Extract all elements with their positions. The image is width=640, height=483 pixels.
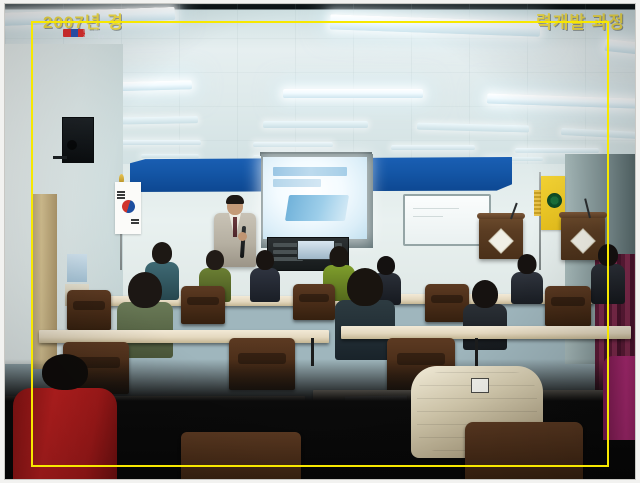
flag-emblem-icon (547, 193, 562, 208)
ceiling-lamp (391, 145, 475, 150)
audience-head (347, 268, 383, 306)
audience-body (591, 264, 625, 304)
presenter-hair (226, 195, 244, 204)
audience-member (591, 244, 625, 302)
magenta-jacket-torso (603, 356, 635, 440)
ceiling-lamp (141, 154, 199, 158)
chair[interactable] (545, 286, 591, 326)
audience-body (250, 268, 280, 302)
photo-plate: 2007년 경 력개발 과정 협력 : 한국 주최 : 노동부 (5, 4, 635, 479)
podium-top-surface (559, 212, 607, 218)
audience-head (518, 254, 537, 274)
audience-head (472, 280, 498, 308)
person-magenta-jacket (603, 356, 635, 456)
ceiling-lamp (121, 140, 201, 145)
wall-notice-poster (67, 254, 87, 282)
chair[interactable] (293, 284, 335, 320)
banner-text-right: 력개발 과정 (536, 8, 625, 33)
ceiling-lamp (253, 142, 333, 147)
slide-graphic (285, 195, 349, 221)
whiteboard-marking (413, 216, 443, 217)
desk-row-middle (341, 326, 631, 339)
red-jacket-torso (13, 388, 117, 479)
audience-member (511, 254, 543, 302)
person-head (42, 354, 88, 390)
audience-head (330, 246, 349, 267)
audience-head (128, 272, 162, 308)
whiteboard (403, 194, 491, 246)
audience-head (598, 244, 618, 266)
banner-subtext-line1: 협력 : 한국 (83, 28, 101, 33)
speaker-mount-bracket (53, 156, 67, 159)
podium-left (479, 217, 523, 259)
chair-foreground[interactable] (465, 422, 583, 479)
photograph: 2007년 경 력개발 과정 협력 : 한국 주최 : 노동부 (5, 4, 635, 479)
whiteboard-marking (413, 208, 459, 209)
presenter-necktie (233, 217, 237, 237)
presenter-hand (238, 232, 247, 241)
chair[interactable] (181, 286, 225, 324)
audience-head (206, 250, 224, 270)
ceiling-lamp (263, 121, 368, 128)
korean-national-flag (115, 182, 141, 234)
audience-head (152, 242, 172, 264)
screenshot-root: 2007년 경 력개발 과정 협력 : 한국 주최 : 노동부 (0, 0, 640, 483)
jacket-label-icon (471, 378, 489, 393)
banner-subtext-line2: 주최 : 노동부 (83, 34, 105, 39)
ceiling-lamp (283, 89, 423, 98)
slide-subtitle-line (273, 179, 321, 187)
slide-title-line (273, 167, 347, 176)
banner-logo-icon (63, 29, 85, 37)
audience-member (250, 250, 280, 300)
person-red-jacket (13, 370, 117, 479)
podium-emblem-icon (488, 228, 513, 253)
chair[interactable] (67, 290, 111, 330)
audience-body (511, 272, 543, 304)
podium-top-surface (477, 213, 525, 219)
ceiling-lamp (515, 148, 599, 153)
chair-foreground[interactable] (181, 432, 301, 479)
projection-screen (263, 157, 367, 239)
audience-member (335, 268, 395, 354)
audience-head (256, 250, 274, 270)
taeguk-circle-icon (120, 198, 138, 216)
